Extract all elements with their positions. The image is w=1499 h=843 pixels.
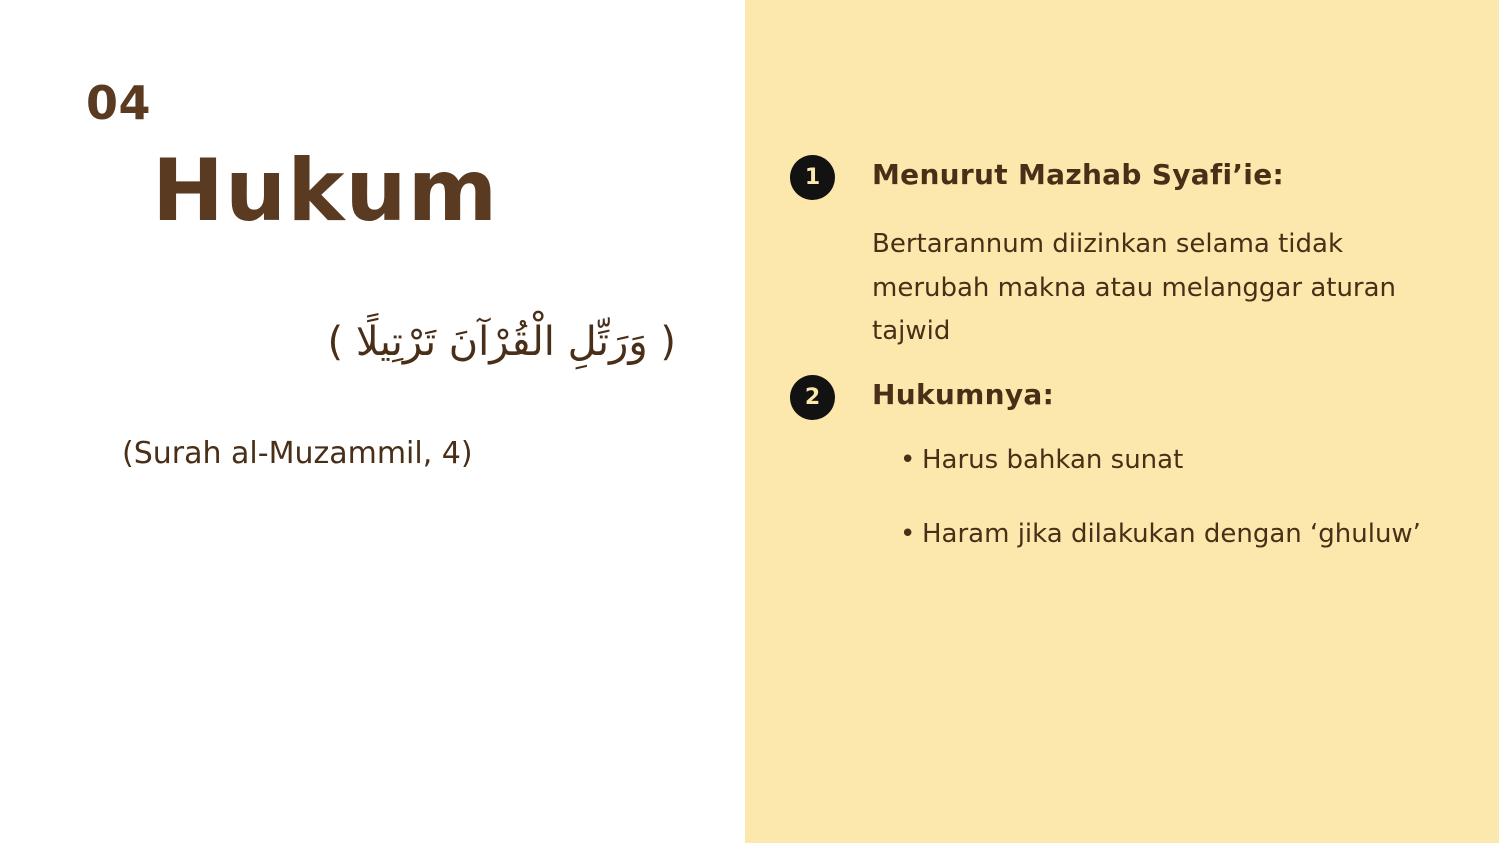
quran-verse-citation: (Surah al-Muzammil, 4) [122,436,473,472]
bullet-item: Harus bahkan sunat [900,445,1460,476]
step-badge-2: 2 [790,375,835,420]
bullet-item: Haram jika dilakukan dengan ‘ghuluw’ [900,519,1460,550]
point-heading-1: Menurut Mazhab Syafi’ie: [872,158,1284,192]
point-heading-2: Hukumnya: [872,378,1054,412]
page-title: Hukum [152,148,498,234]
quran-verse-arabic: ( وَرَتِّلِ الْقُرْآنَ تَرْتِيلًا ) [120,312,676,372]
bullet-list-2: Harus bahkan sunat Haram jika dilakukan … [900,445,1460,593]
slide-canvas: 04 Hukum ( وَرَتِّلِ الْقُرْآنَ تَرْتِيل… [0,0,1499,843]
slide-number: 04 [86,80,151,126]
step-badge-1: 1 [790,155,835,200]
point-body-1: Bertarannum diizinkan selama tidak merub… [872,223,1402,354]
left-column: 04 Hukum ( وَرَتِّلِ الْقُرْآنَ تَرْتِيل… [0,0,745,843]
content-panel: 1 Menurut Mazhab Syafi’ie: Bertarannum d… [745,0,1499,843]
